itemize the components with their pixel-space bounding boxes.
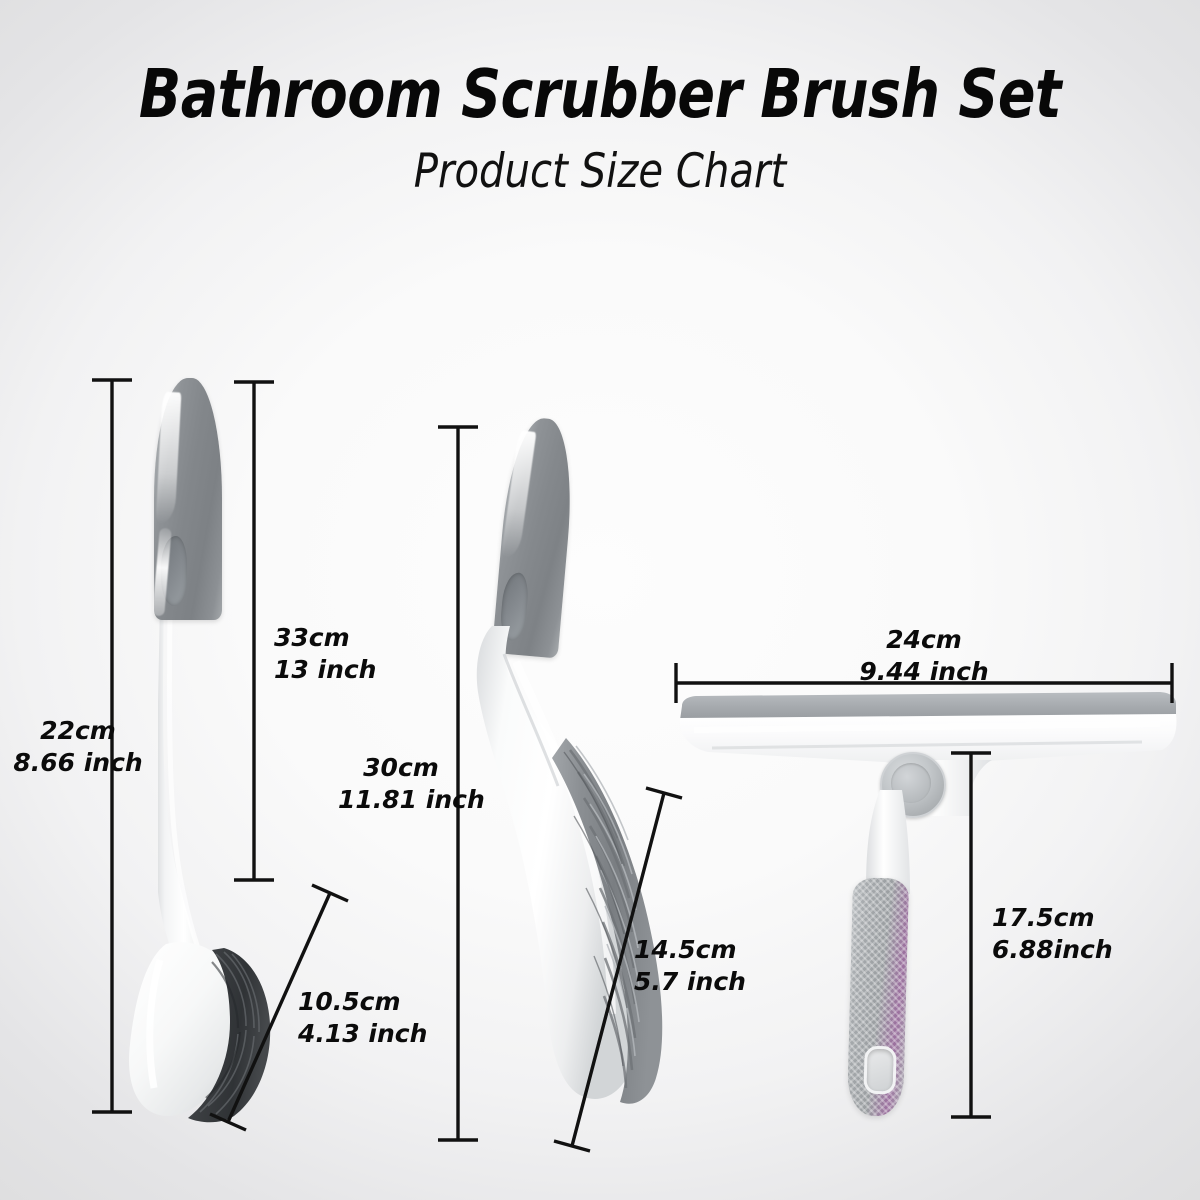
page-title: Bathroom Scrubber Brush Set <box>48 58 1152 130</box>
dimension-label-p2-head: 14.5cm 5.7 inch <box>634 934 804 998</box>
dimension-label-p1-total: 22cm 8.66 inch <box>8 715 148 779</box>
grip-highlight <box>156 392 182 525</box>
brush-head-round <box>126 938 302 1128</box>
dimension-label-p1-head: 10.5cm 4.13 inch <box>298 986 468 1050</box>
hang-hole <box>863 1046 896 1095</box>
dimension-label-p3-width: 24cm 9.44 inch <box>824 624 1024 688</box>
page-subtitle: Product Size Chart <box>30 144 1170 199</box>
heading-block: Bathroom Scrubber Brush Set Product Size… <box>0 58 1200 199</box>
grout-brush-grip <box>492 416 578 659</box>
dimension-label-p1-handle: 33cm 13 inch <box>274 622 424 686</box>
dimension-label-p2-total: 30cm 11.81 inch <box>338 752 464 816</box>
brush-grip <box>154 378 222 620</box>
size-chart-page: Bathroom Scrubber Brush Set Product Size… <box>0 0 1200 1200</box>
dimension-label-p3-height: 17.5cm 6.88inch <box>992 902 1162 966</box>
squeegee-grip <box>847 877 909 1116</box>
grip-highlight <box>501 430 537 559</box>
